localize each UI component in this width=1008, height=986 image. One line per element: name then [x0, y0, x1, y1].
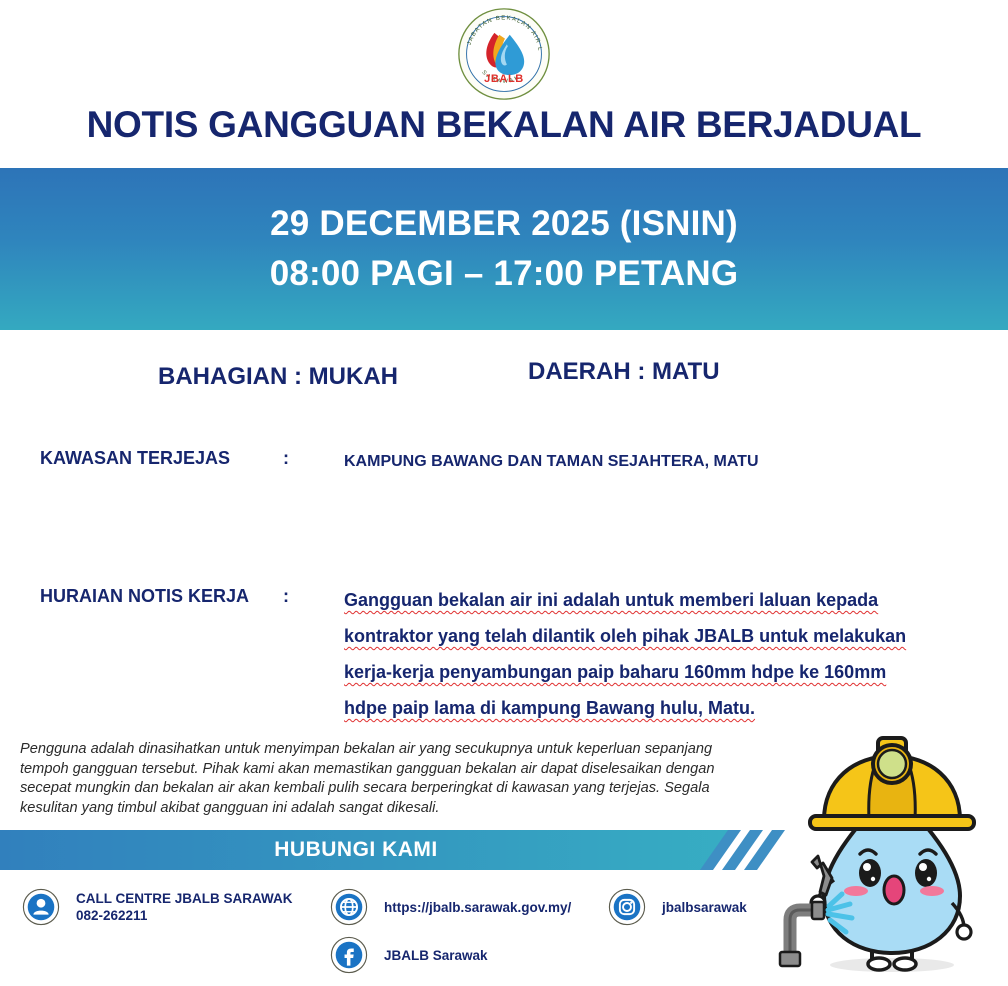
person-icon	[22, 888, 60, 926]
call-centre-line1: CALL CENTRE JBALB SARAWAK	[76, 891, 293, 906]
contact-facebook[interactable]: JBALB Sarawak	[330, 936, 488, 974]
huraian-colon: :	[283, 586, 289, 607]
contact-bar: HUBUNGI KAMI	[0, 830, 1008, 870]
banner-date: 29 DECEMBER 2025 (ISNIN)	[270, 199, 738, 249]
instagram-text: jbalbsarawak	[662, 899, 747, 916]
jbalb-logo: JABATAN BEKALAN AIR LUAR BANDAR SARAWAK …	[456, 6, 552, 102]
huraian-label: HURAIAN NOTIS KERJA	[40, 586, 249, 607]
call-centre-line2: 082-262211	[76, 907, 293, 924]
leaking-pipe-icon	[780, 894, 852, 966]
logo-container: JABATAN BEKALAN AIR LUAR BANDAR SARAWAK …	[0, 4, 1008, 104]
call-centre-text: CALL CENTRE JBALB SARAWAK 082-262211	[76, 890, 293, 924]
daerah-label: DAERAH : MATU	[528, 358, 720, 386]
desc-line-3: kerja-kerja penyambungan paip baharu 160…	[344, 654, 904, 690]
website-text: https://jbalb.sarawak.gov.my/	[384, 899, 571, 916]
contact-call-centre[interactable]: CALL CENTRE JBALB SARAWAK 082-262211	[22, 888, 293, 926]
contact-website[interactable]: https://jbalb.sarawak.gov.my/	[330, 888, 571, 926]
kawasan-colon: :	[283, 448, 289, 469]
huraian-description: Gangguan bekalan air ini adalah untuk me…	[344, 582, 904, 726]
contact-bar-background: HUBUNGI KAMI	[0, 830, 740, 870]
facebook-text: JBALB Sarawak	[384, 947, 488, 964]
contact-instagram[interactable]: jbalbsarawak	[608, 888, 747, 926]
svg-text:JBALB: JBALB	[484, 73, 524, 85]
desc-line-1: Gangguan bekalan air ini adalah untuk me…	[344, 582, 904, 618]
notice-page: JABATAN BEKALAN AIR LUAR BANDAR SARAWAK …	[0, 0, 1008, 986]
facebook-icon	[330, 936, 368, 974]
bahagian-label: BAHAGIAN : MUKAH	[158, 363, 398, 391]
instagram-icon	[608, 888, 646, 926]
kawasan-label: KAWASAN TERJEJAS	[40, 448, 230, 469]
globe-icon	[330, 888, 368, 926]
contact-bar-label: HUBUNGI KAMI	[0, 830, 712, 870]
desc-line-2: kontraktor yang telah dilantik oleh piha…	[344, 618, 904, 654]
desc-line-4: hdpe paip lama di kampung Bawang hulu, M…	[344, 690, 904, 726]
banner-time: 08:00 PAGI – 17:00 PETANG	[270, 249, 739, 299]
disclaimer-text: Pengguna adalah dinasihatkan untuk menyi…	[20, 740, 726, 818]
page-title: NOTIS GANGGUAN BEKALAN AIR BERJADUAL	[0, 104, 1008, 146]
date-banner: 29 DECEMBER 2025 (ISNIN) 08:00 PAGI – 17…	[0, 168, 1008, 330]
kawasan-value: KAMPUNG BAWANG DAN TAMAN SEJAHTERA, MATU	[344, 453, 759, 471]
